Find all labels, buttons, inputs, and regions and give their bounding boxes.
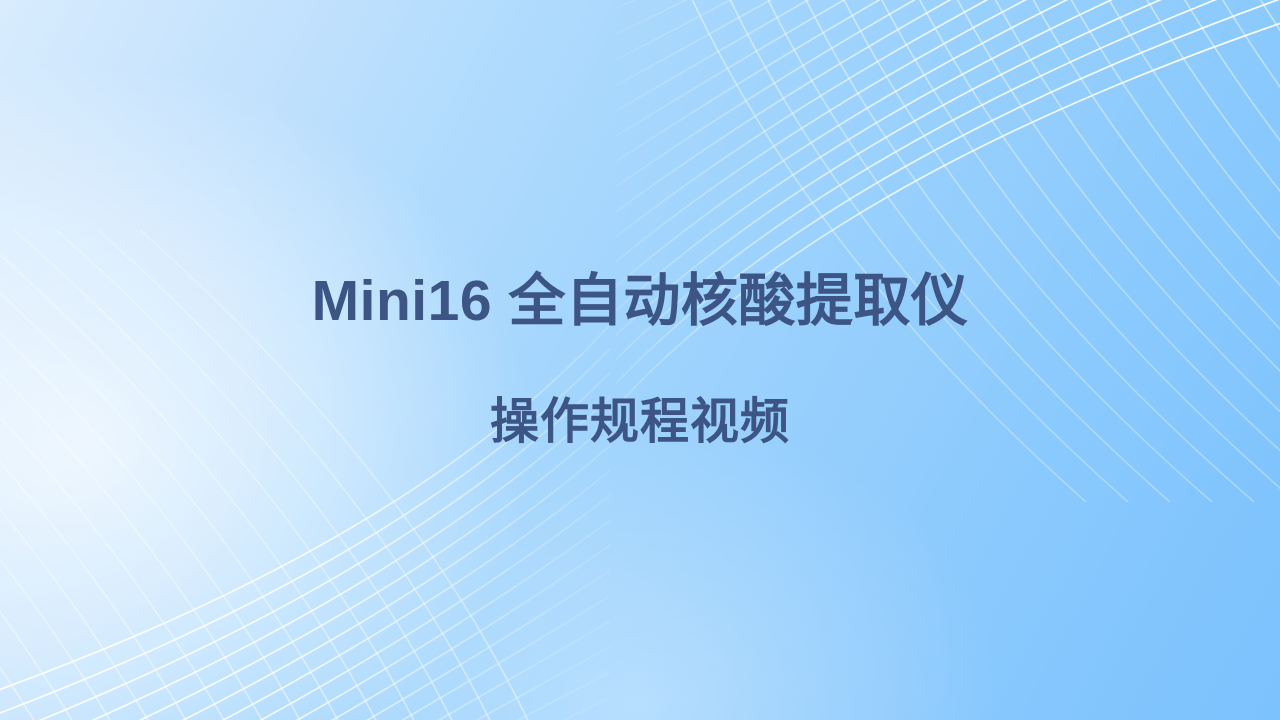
slide-text-block: Mini16 全自动核酸提取仪 操作规程视频 (0, 0, 1280, 720)
page-subtitle: 操作规程视频 (490, 396, 790, 450)
page-title: Mini16 全自动核酸提取仪 (312, 270, 969, 333)
title-slide: Mini16 全自动核酸提取仪 操作规程视频 (0, 0, 1280, 720)
